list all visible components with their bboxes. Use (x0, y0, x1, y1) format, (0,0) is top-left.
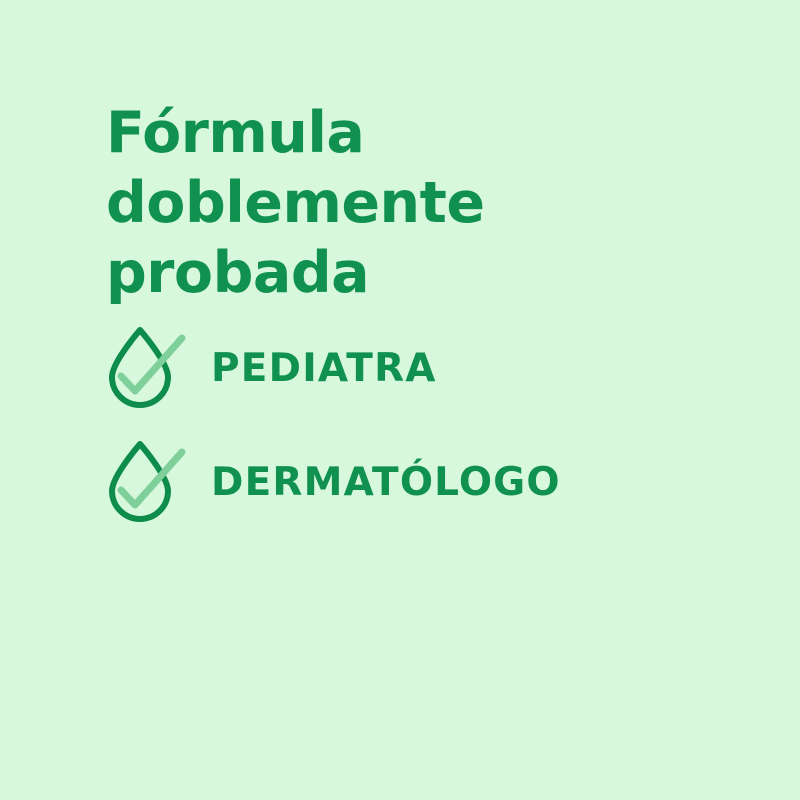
claim-list: PEDIATRA DERMATÓLOGO (104, 322, 744, 550)
list-item: DERMATÓLOGO (104, 436, 744, 528)
claim-label: PEDIATRA (211, 349, 437, 388)
droplet-check-icon (104, 324, 186, 412)
droplet-check-icon (104, 438, 186, 526)
list-item: PEDIATRA (104, 322, 744, 414)
claim-label: DERMATÓLOGO (211, 463, 561, 502)
page-title: Fórmula doblemente probada (106, 98, 746, 308)
promo-card: Fórmula doblemente probada PEDIATRA DERM… (0, 0, 800, 800)
